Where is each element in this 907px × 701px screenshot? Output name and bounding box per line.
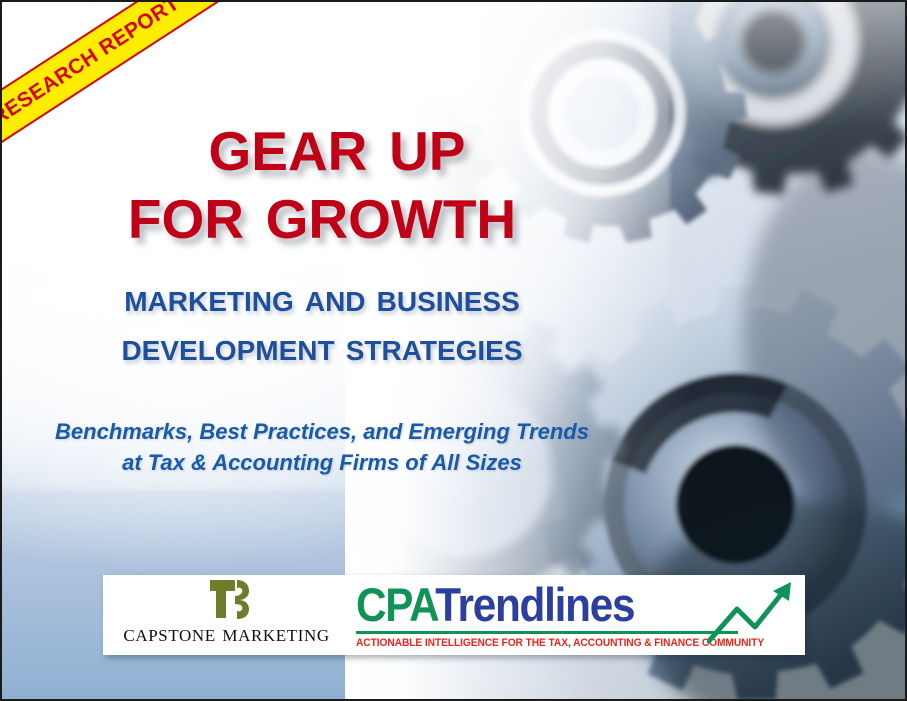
tagline-line-1: Benchmarks, Best Practices, and Emerging… [2, 416, 642, 447]
cpa-trendlines-logo: CPATrendlines ACTIONABLE INTELLIGENCE FO… [350, 575, 805, 655]
trendlines-word: Trendlines [435, 578, 634, 631]
page-subtitle: Marketing and Business Development Strat… [2, 248, 642, 372]
capstone-wordmark: Capstone Marketing [123, 621, 329, 648]
title-line-2: for Growth [2, 174, 642, 248]
capstone-marketing-logo: Capstone Marketing [103, 575, 350, 655]
cpa-trendlines-tagline: ACTIONABLE INTELLIGENCE FOR THE TAX, ACC… [356, 637, 764, 649]
page-title: Gear Up for Growth [2, 2, 642, 248]
tagline-line-2: at Tax & Accounting Firms of All Sizes [2, 447, 642, 478]
report-cover-page: RESEARCH REPORT Gear Up for Growth Marke… [0, 0, 907, 701]
subtitle-line-2: Development Strategies [2, 323, 642, 372]
cover-text-block: Gear Up for Growth Marketing and Busines… [2, 2, 642, 478]
logo-bar: Capstone Marketing CPATrendlines ACTIONA… [103, 575, 805, 655]
capstone-mark-icon [204, 578, 250, 620]
subtitle-line-1: Marketing and Business [2, 274, 642, 323]
trend-arrow-icon [707, 579, 799, 649]
cpa-trendlines-wordmark: CPATrendlines [356, 581, 751, 628]
cpa-trendlines-rule [356, 631, 738, 634]
page-tagline: Benchmarks, Best Practices, and Emerging… [2, 372, 642, 478]
cpa-word: CPA [356, 578, 435, 631]
